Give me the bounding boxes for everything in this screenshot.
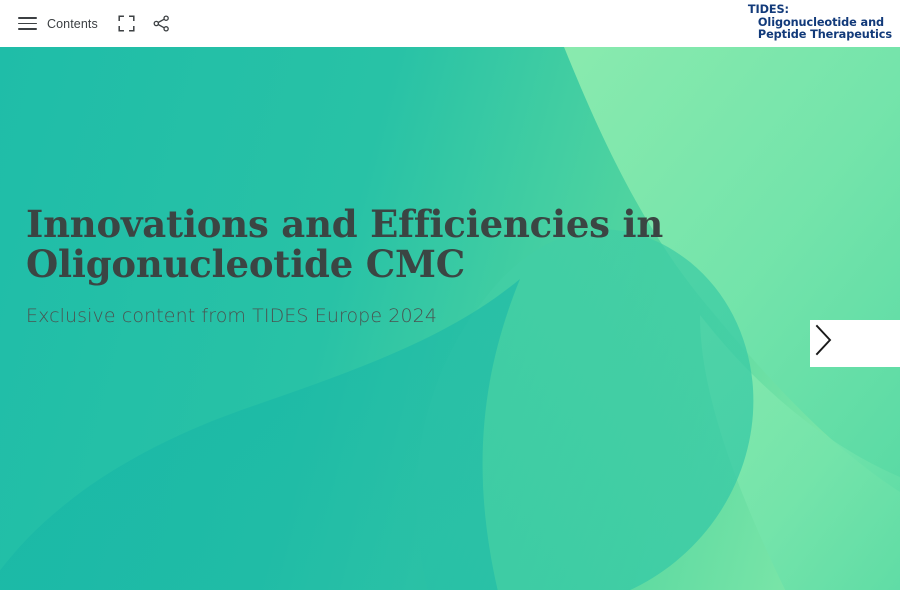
hamburger-menu-button[interactable] bbox=[13, 9, 41, 39]
share-button[interactable] bbox=[146, 9, 178, 39]
top-toolbar: Contents bbox=[0, 0, 900, 47]
hamburger-menu-icon bbox=[18, 17, 37, 30]
fullscreen-button[interactable] bbox=[110, 9, 144, 39]
tides-logo: TIDES: Oligonucleotide and Peptide Thera… bbox=[742, 4, 892, 42]
chevron-right-icon bbox=[810, 320, 836, 360]
logo-line-3: Peptide Therapeutics bbox=[742, 29, 892, 42]
contents-label[interactable]: Contents bbox=[41, 17, 102, 31]
hero-text-block: Innovations and Efficiencies in Oligonuc… bbox=[26, 205, 856, 327]
page-title: Innovations and Efficiencies in Oligonuc… bbox=[26, 205, 856, 285]
hero-section: Innovations and Efficiencies in Oligonuc… bbox=[0, 47, 900, 590]
next-page-button[interactable] bbox=[810, 320, 900, 367]
page-subtitle: Exclusive content from TIDES Europe 2024 bbox=[26, 305, 856, 327]
toolbar-left-group: Contents bbox=[0, 9, 178, 39]
logo-line-1: TIDES: bbox=[742, 4, 892, 17]
share-icon bbox=[153, 15, 170, 32]
fullscreen-icon bbox=[118, 15, 135, 32]
